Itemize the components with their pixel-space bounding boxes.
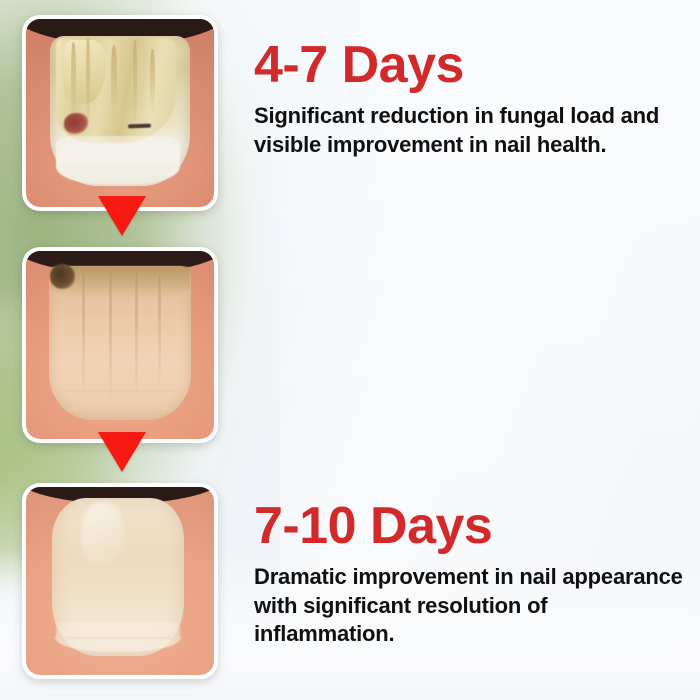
nail-photo-card-stage-3[interactable]	[22, 483, 218, 679]
timeline-content: 4-7 Days Significant reduction in fungal…	[0, 0, 700, 700]
nail-distal-edge	[52, 390, 187, 420]
stage-1-description: Significant reduction in fungal load and…	[254, 102, 684, 159]
nail-streak	[111, 45, 117, 120]
down-arrow-icon	[98, 196, 146, 236]
stage-2-text: 7-10 Days Dramatic improvement in nail a…	[254, 500, 684, 649]
nail-streak	[133, 40, 137, 126]
nail-streak	[150, 49, 155, 113]
nail-ridge	[135, 272, 138, 396]
distal-white-area	[56, 136, 180, 185]
nail-photo-stage-2	[26, 251, 214, 439]
dark-corner-lesion	[50, 264, 74, 288]
nail-photo-card-stage-1[interactable]	[22, 15, 218, 211]
stage-2-heading: 7-10 Days	[254, 500, 684, 553]
stage-2-description: Dramatic improvement in nail appearance …	[254, 563, 684, 649]
stage-1-text: 4-7 Days Significant reduction in fungal…	[254, 39, 684, 159]
nail-ridge	[109, 270, 112, 402]
stage-1-heading: 4-7 Days	[254, 39, 684, 92]
nail-photo-stage-3	[26, 487, 214, 675]
yellow-keratin-patch	[64, 40, 105, 104]
nail-photo-stage-1	[26, 19, 214, 207]
nail-streak	[71, 42, 76, 125]
cuticle-line	[54, 637, 182, 656]
nail-ridge	[158, 275, 161, 384]
nail-photo-card-stage-2[interactable]	[22, 247, 218, 443]
down-arrow-icon	[98, 432, 146, 472]
